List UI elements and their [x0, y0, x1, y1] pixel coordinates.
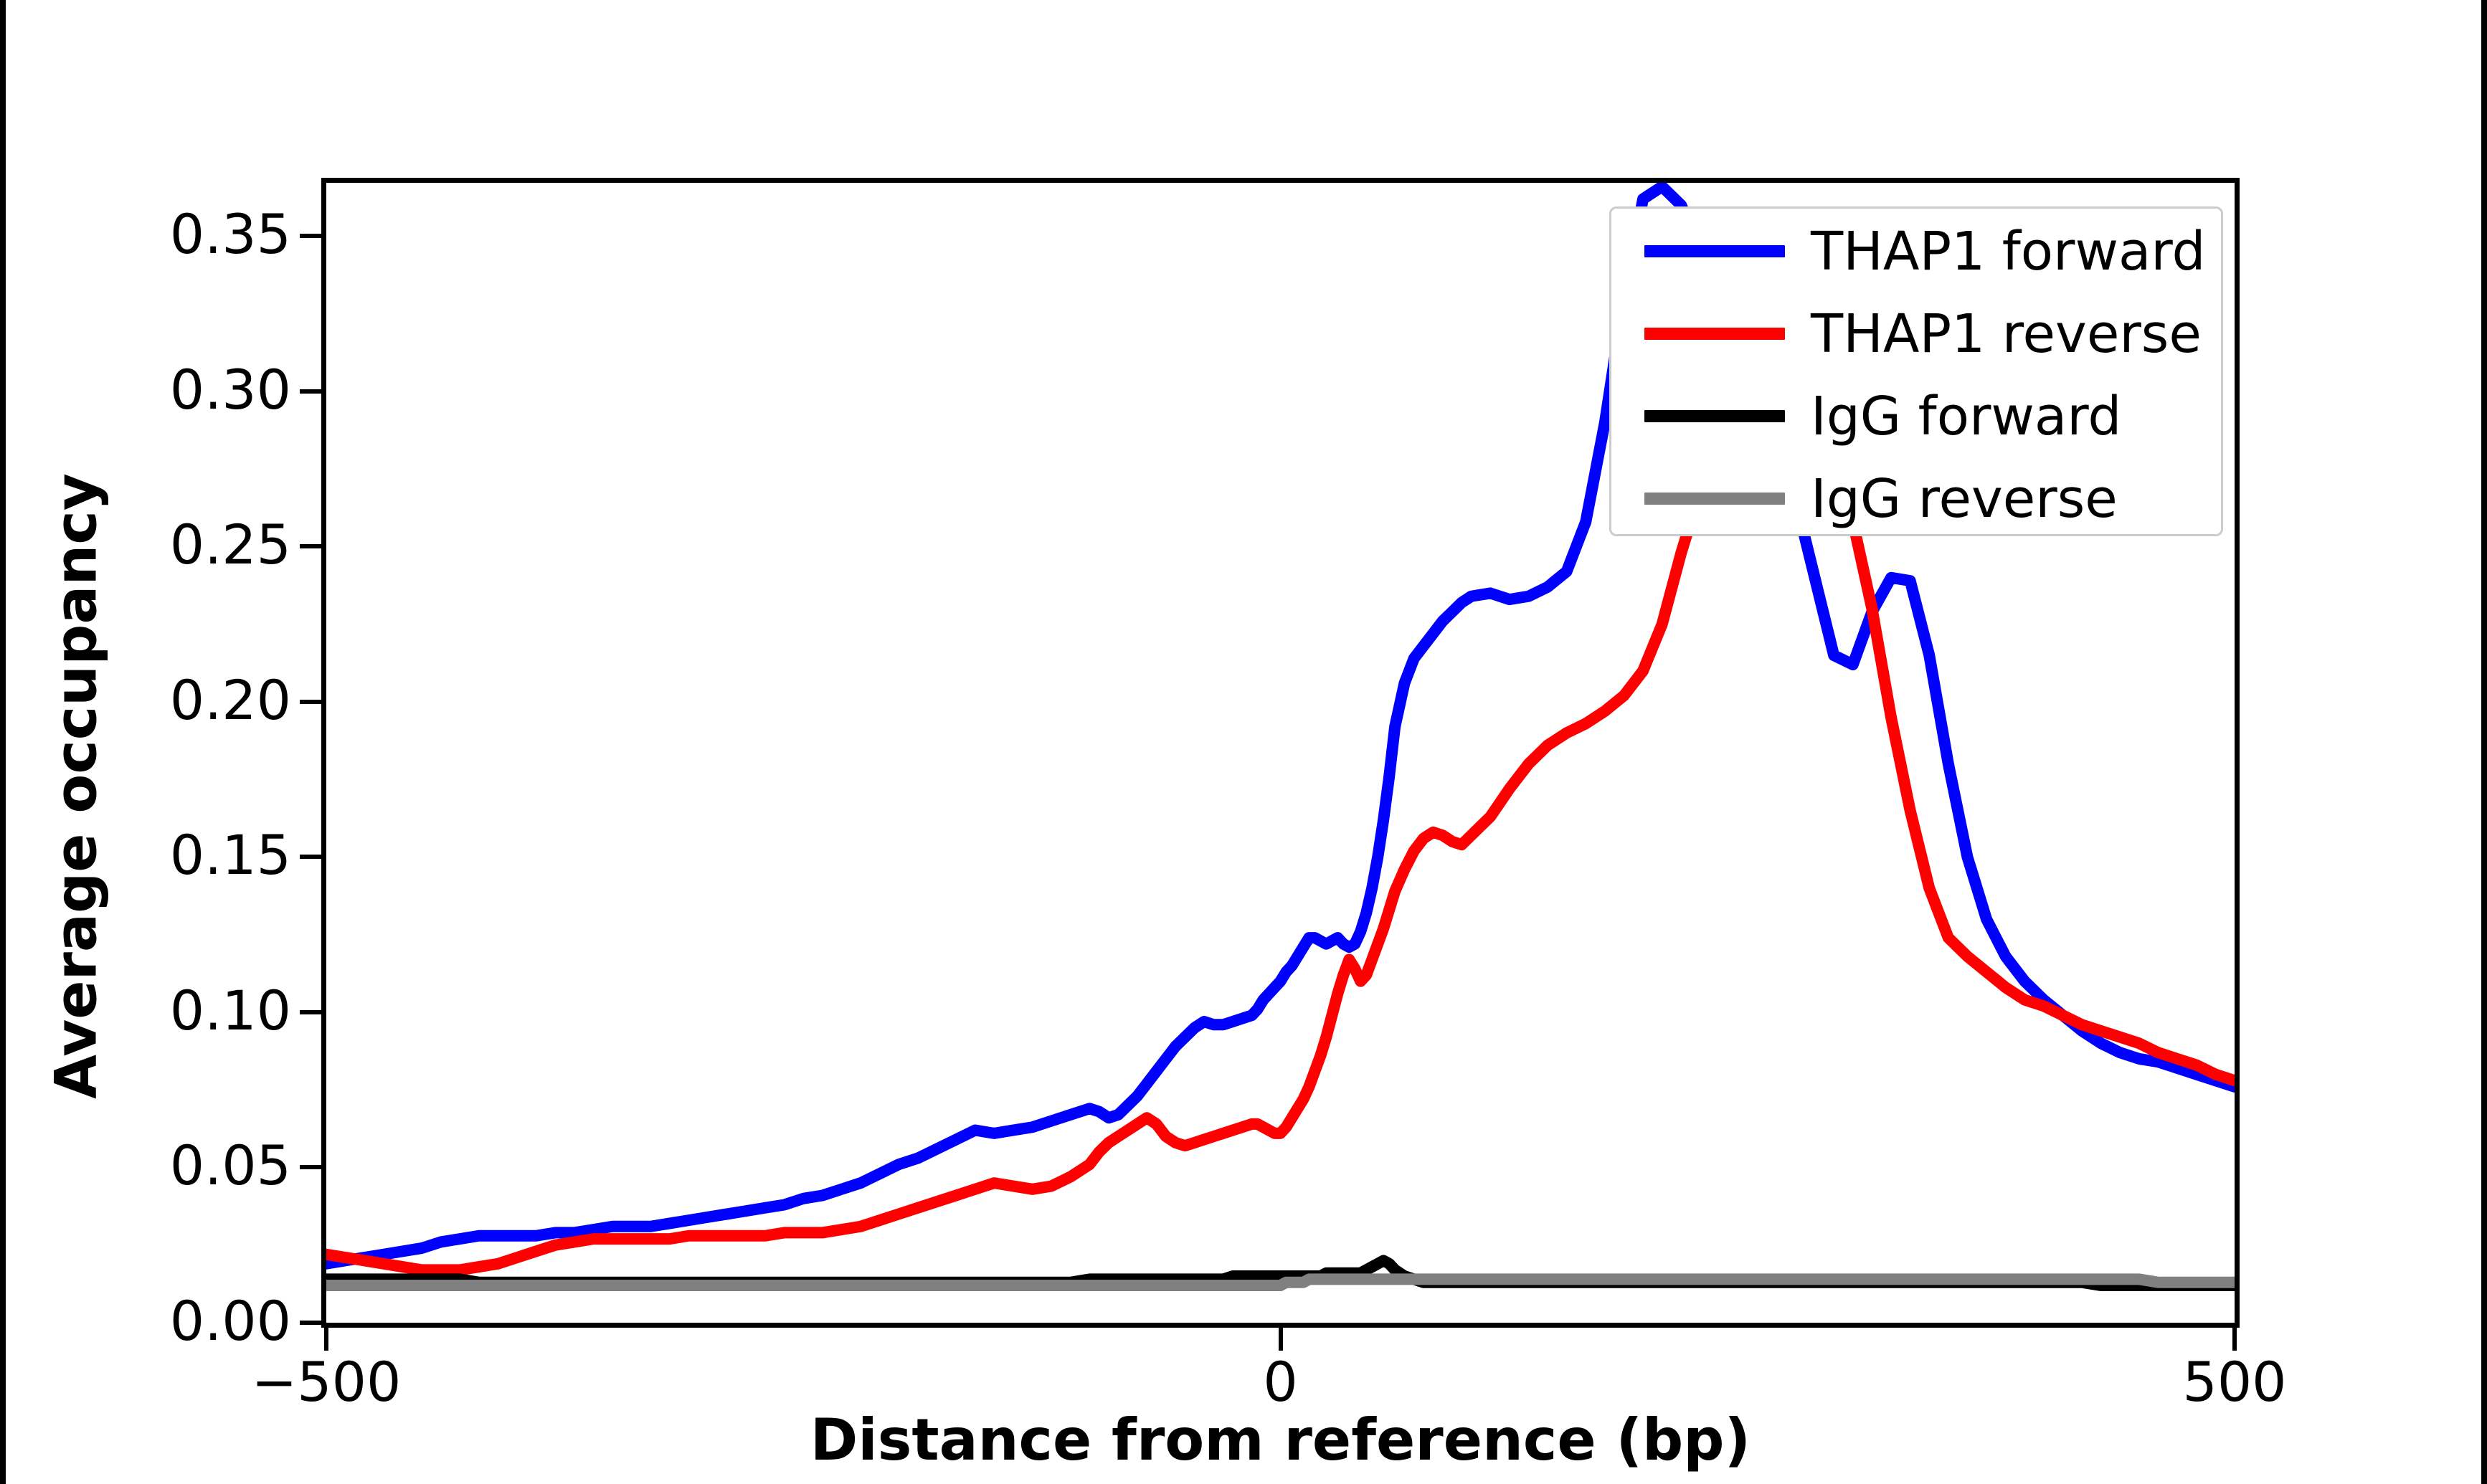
y-tick-mark — [300, 389, 323, 394]
legend-item: THAP1 reverse — [1611, 292, 2221, 375]
y-tick-label: 0.10 — [170, 984, 291, 1038]
figure-canvas: Average occupancy 0.000.050.100.150.200.… — [6, 0, 2481, 1484]
legend-item: IgG forward — [1611, 375, 2221, 457]
x-tick-mark — [2232, 1328, 2237, 1351]
legend-color-swatch — [1644, 328, 1785, 340]
y-tick-mark — [300, 1165, 323, 1169]
legend-item: IgG reverse — [1611, 457, 2221, 540]
y-tick-label: 0.35 — [170, 207, 291, 262]
x-tick-label: −500 — [183, 1355, 470, 1409]
legend-label: THAP1 reverse — [1811, 308, 2202, 361]
series-line-thap1-reverse — [326, 450, 2235, 1270]
y-tick-mark — [300, 1321, 323, 1325]
legend-color-swatch — [1644, 493, 1785, 505]
legend-label: IgG reverse — [1811, 472, 2118, 525]
y-tick-mark — [300, 700, 323, 704]
y-tick-label: 0.05 — [170, 1138, 291, 1193]
legend-color-swatch — [1644, 245, 1785, 257]
y-tick-mark — [300, 855, 323, 859]
legend-label: THAP1 forward — [1811, 225, 2205, 278]
x-tick-mark — [324, 1328, 328, 1351]
legend-item: THAP1 forward — [1611, 210, 2221, 292]
y-tick-label: 0.30 — [170, 363, 291, 417]
x-tick-label: 0 — [1137, 1355, 1424, 1409]
y-tick-mark — [300, 1010, 323, 1014]
x-tick-label: 500 — [2091, 1355, 2378, 1409]
x-axis-label: Distance from reference (bp) — [321, 1407, 2240, 1473]
series-line-igg-reverse — [326, 1279, 2235, 1285]
y-tick-label: 0.00 — [170, 1294, 291, 1349]
chart-legend: THAP1 forwardTHAP1 reverseIgG forwardIgG… — [1609, 206, 2223, 536]
legend-color-swatch — [1644, 410, 1785, 422]
y-tick-label: 0.15 — [170, 828, 291, 883]
y-tick-mark — [300, 544, 323, 548]
y-axis-label: Average occupancy — [43, 464, 110, 1109]
y-tick-mark — [300, 234, 323, 238]
y-tick-label: 0.20 — [170, 673, 291, 728]
x-tick-mark — [1279, 1328, 1283, 1351]
legend-label: IgG forward — [1811, 390, 2121, 443]
y-tick-label: 0.25 — [170, 518, 291, 572]
